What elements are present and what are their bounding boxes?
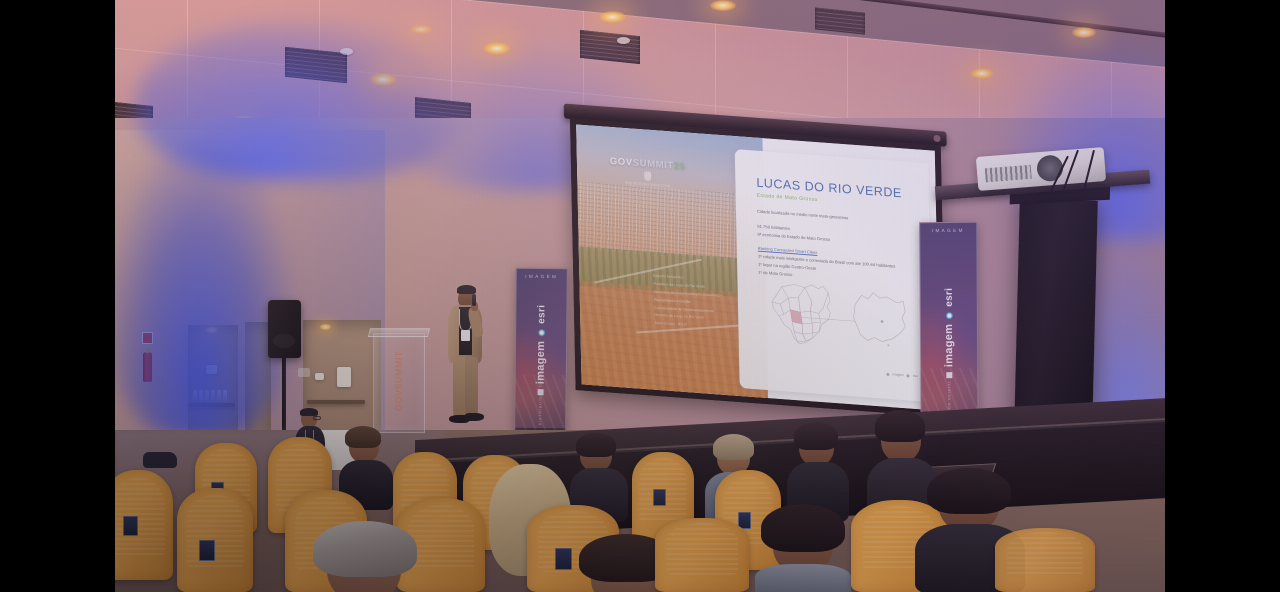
seat-badge	[555, 548, 572, 570]
audience-hair	[875, 410, 925, 442]
banner-top-wordmark: IMAGEM	[525, 274, 558, 279]
blue-uplight-glow	[115, 140, 295, 440]
screen-surface: GOVSUMMIT25 PREFEITURA MUNICIPAL Registr…	[576, 124, 940, 410]
chair	[655, 518, 749, 592]
esri-globe-icon	[945, 312, 952, 319]
audience-hair	[576, 433, 616, 457]
audience-hair	[794, 422, 838, 450]
logo-word-gov: GOV	[610, 155, 633, 168]
acrylic-lectern: GOVSUMMIT	[373, 333, 425, 433]
presentation-slide: GOVSUMMIT25 PREFEITURA MUNICIPAL Registr…	[576, 124, 940, 410]
smoke-detector-icon	[617, 37, 630, 44]
napkin-dispenser	[337, 367, 351, 387]
seat-badge	[653, 489, 666, 506]
imagem-logo-icon	[886, 373, 889, 376]
presenter-badge	[461, 330, 470, 341]
audience-torso	[755, 564, 851, 592]
audience-hair	[345, 426, 381, 448]
screen-bezel: GOVSUMMIT25 PREFEITURA MUNICIPAL Registr…	[570, 118, 946, 417]
banner-brand-imagem: imagem	[943, 324, 955, 367]
event-logo-wordmark: GOVSUMMIT25	[610, 155, 686, 172]
audience-member	[755, 512, 851, 592]
banner-brand-lockup: imagem esri	[943, 288, 956, 378]
esri-logo-icon	[907, 374, 910, 377]
lectern-top-surface	[368, 328, 430, 337]
eyeglasses-icon	[313, 416, 321, 420]
audience-hair	[927, 468, 1011, 514]
alcove-spotlight	[320, 324, 331, 330]
chair	[995, 528, 1095, 592]
wall-plate	[298, 368, 310, 377]
banner-brand-esri: esri	[536, 304, 547, 323]
esri-globe-icon	[538, 328, 545, 335]
map-connector-line	[802, 317, 855, 321]
audience-hair	[761, 504, 845, 552]
crew-hair	[300, 408, 318, 416]
paper-stack	[315, 373, 324, 380]
map-north-marker	[887, 344, 889, 346]
seat-badge	[123, 516, 138, 536]
city-location-marker	[881, 320, 884, 323]
banner-top-wordmark: IMAGEM	[932, 228, 965, 233]
brazil-and-mato-grosso-maps	[756, 249, 925, 381]
mato-grosso-detail-outline	[853, 291, 906, 343]
logo-word-year: 25	[674, 160, 686, 172]
pa-loudspeaker	[268, 300, 301, 358]
credit-brand-imagem: imagem	[892, 373, 903, 378]
banner-footer-text: DISTRIBUIDOR OFICIAL	[538, 367, 543, 425]
banner-square-icon	[946, 372, 952, 378]
handheld-microphone	[472, 294, 476, 306]
municipal-crest-icon	[644, 171, 651, 181]
letterbox-bar-left	[0, 0, 115, 592]
presenter-leg-right	[465, 357, 478, 419]
logo-word-summit: SUMMIT	[633, 157, 674, 171]
audience-member	[307, 525, 425, 592]
letterbox-bar-right	[1165, 0, 1280, 592]
slide-maps: imagem esri	[756, 249, 925, 381]
presenter-hair	[457, 285, 476, 294]
seat-badge	[199, 540, 215, 561]
ceiling-downlight	[599, 11, 626, 23]
banner-left: IMAGEM imagem esri DISTRIBUIDOR OFICIAL	[514, 268, 568, 432]
ceiling-downlight	[970, 68, 994, 79]
audience-hair	[713, 434, 754, 460]
audience-hair-grey	[313, 521, 417, 577]
chair	[177, 488, 253, 592]
slide-body-group: 61.758 habitantes 6ª economia do Estado …	[757, 222, 912, 249]
presenter-shoe-right	[465, 413, 484, 421]
alcove-shelf	[307, 400, 365, 404]
lectern-logo-text: GOVSUMMIT	[394, 351, 404, 411]
photograph-frame: GOVSUMMIT25 PREFEITURA MUNICIPAL Registr…	[0, 0, 1280, 592]
presenter	[440, 285, 490, 440]
projection-screen: GOVSUMMIT25 PREFEITURA MUNICIPAL Registr…	[570, 118, 946, 417]
hvac-vent	[815, 7, 865, 34]
brazil-map-outline	[771, 282, 831, 346]
ceiling-downlight	[1072, 27, 1096, 38]
banner-brand-esri: esri	[943, 288, 954, 307]
floor-bag	[143, 452, 177, 468]
ceiling-downlight	[410, 25, 432, 34]
ceiling-downlight	[710, 0, 736, 11]
conference-room-scene: GOVSUMMIT25 PREFEITURA MUNICIPAL Registr…	[115, 0, 1165, 592]
slide-content-card: LUCAS DO RIO VERDE Estado de Mato Grosso…	[734, 149, 933, 402]
credit-brand-esri: esri	[913, 374, 918, 378]
